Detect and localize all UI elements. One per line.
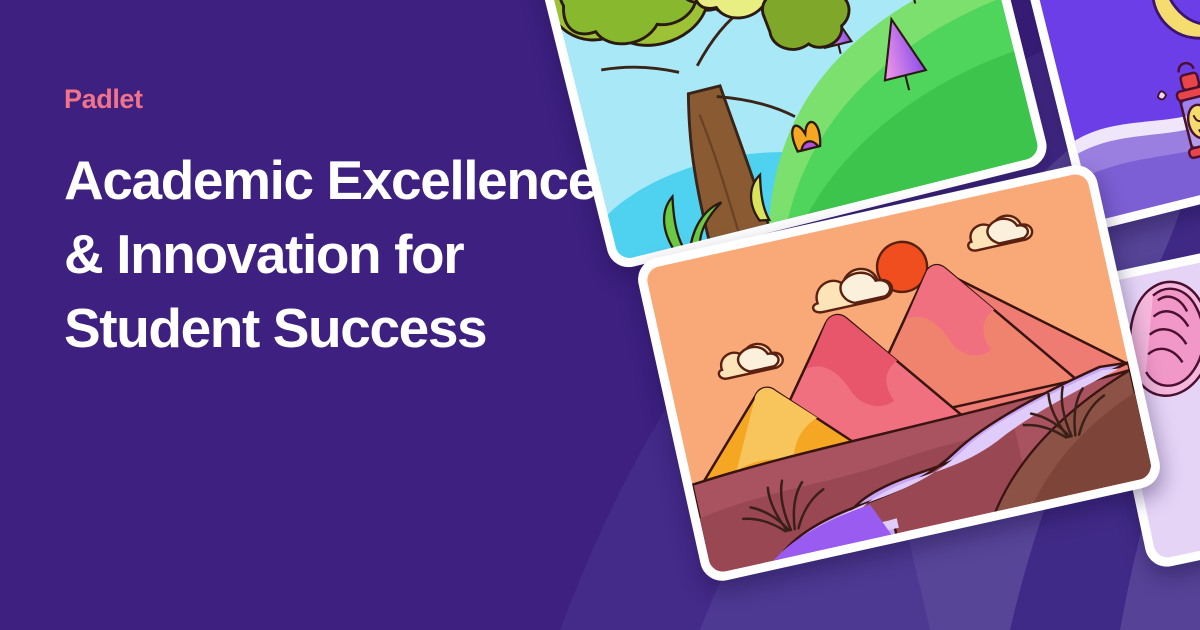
hero-banner: Padlet Academic Excellence & Innovation … — [0, 0, 1200, 630]
padlet-logo[interactable]: Padlet — [64, 86, 624, 113]
page-title: Academic Excellence & Innovation for Stu… — [64, 143, 624, 365]
hero-text-block: Padlet Academic Excellence & Innovation … — [64, 86, 624, 365]
